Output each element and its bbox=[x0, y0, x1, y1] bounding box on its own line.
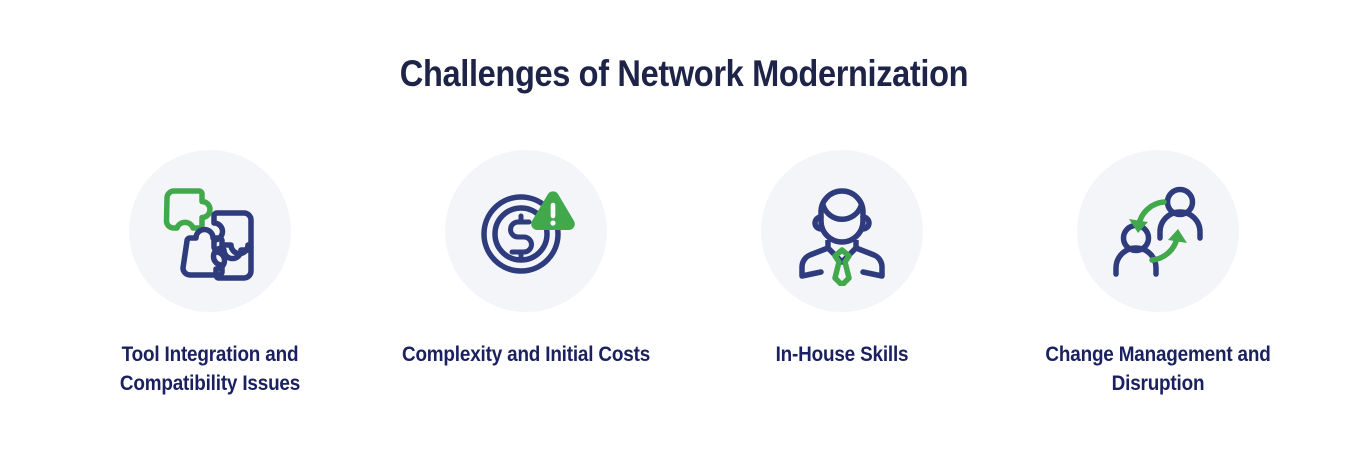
challenge-card: Tool Integration and Compatibility Issue… bbox=[52, 150, 368, 398]
dollar-target-warning-icon bbox=[471, 176, 581, 286]
businessperson-tie-icon bbox=[790, 176, 894, 286]
challenge-card: In-House Skills bbox=[684, 150, 1000, 369]
card-label: Complexity and Initial Costs bbox=[396, 340, 657, 369]
card-label: Change Management and Disruption bbox=[1028, 340, 1289, 398]
icon-circle bbox=[129, 150, 291, 312]
challenge-card-list: Tool Integration and Compatibility Issue… bbox=[0, 150, 1368, 398]
card-label: Tool Integration and Compatibility Issue… bbox=[80, 340, 341, 398]
infographic-slide: Challenges of Network Modernization bbox=[0, 0, 1368, 471]
challenge-card: Complexity and Initial Costs bbox=[368, 150, 684, 369]
people-exchange-arrows-icon bbox=[1103, 176, 1213, 286]
page-title: Challenges of Network Modernization bbox=[82, 52, 1286, 96]
challenge-card: Change Management and Disruption bbox=[1000, 150, 1316, 398]
icon-circle bbox=[761, 150, 923, 312]
icon-circle bbox=[445, 150, 607, 312]
puzzle-pieces-icon bbox=[155, 176, 265, 286]
card-label: In-House Skills bbox=[712, 340, 973, 369]
icon-circle bbox=[1077, 150, 1239, 312]
